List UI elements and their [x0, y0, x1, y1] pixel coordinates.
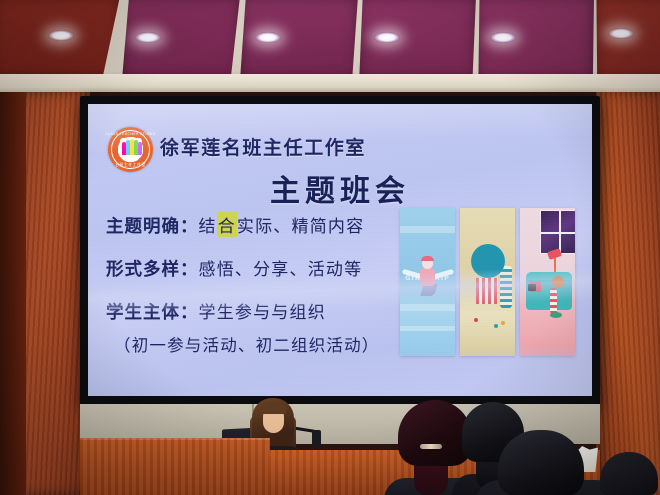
bullet-item-3: 学生主体： 学生参与与组织 [106, 298, 406, 324]
ceiling-light-2 [135, 32, 161, 43]
bullet-3-lead: 学生主体： [106, 299, 199, 324]
ceiling-panel-6 [594, 0, 660, 80]
projection-screen: CLASS TEACHER STUDIO 名班主任工作室 徐军莲名班主任工作室 … [88, 104, 592, 396]
illustration-airplane-traveler: GIRL TRIP [400, 208, 455, 356]
bullet-1-highlight: 合 [217, 212, 237, 237]
right-wood-wall [596, 92, 660, 495]
beach-umbrella-icon [471, 244, 505, 278]
bullet-item-1: 主题明确： 结合实际、精简内容 [106, 212, 406, 238]
bullet-item-2: 形式多样： 感悟、分享、活动等 [106, 255, 406, 281]
left-wall-shadow [0, 92, 26, 495]
window-icon [540, 210, 575, 254]
bullet-1-rest-after: 实际、精简内容 [237, 212, 364, 237]
ceiling-light-6 [608, 28, 634, 39]
slide-bullet-list: 主题明确： 结合实际、精简内容 形式多样： 感悟、分享、活动等 学生主体： 学生… [106, 212, 406, 373]
ceiling-light-3 [255, 32, 281, 43]
ceiling [0, 0, 660, 92]
slide-image-row: GIRL TRIP [400, 208, 576, 356]
illustration-living-room-sofa [520, 208, 575, 356]
bullet-1-lead: 主题明确： [106, 213, 199, 238]
emblem-center [120, 138, 142, 156]
podium [80, 438, 270, 495]
ceiling-light-5 [490, 32, 516, 43]
ceiling-light-4 [374, 32, 400, 43]
soffit-lip [0, 88, 660, 92]
bullet-2-lead: 形式多样： [106, 256, 199, 281]
bullet-2-rest: 感悟、分享、活动等 [199, 255, 363, 280]
bullet-4-rest: （初一参与活动、初二组织活动） [114, 332, 380, 356]
ceiling-light-1 [48, 30, 74, 41]
bullet-item-4: （初一参与活动、初二组织活动） [106, 332, 406, 356]
emblem-top-arc-text: CLASS TEACHER STUDIO [105, 132, 156, 136]
microphone-base [312, 430, 321, 446]
slide-header-text: 徐军莲名班主任工作室 [160, 133, 366, 160]
bullet-3-rest: 学生参与与组织 [199, 298, 326, 323]
bullet-1-rest-before: 结 [199, 212, 217, 237]
lecture-hall-scene: CLASS TEACHER STUDIO 名班主任工作室 徐军莲名班主任工作室 … [0, 0, 660, 495]
illustration-beach-umbrella [460, 208, 515, 356]
slide-title: 主题班会 [88, 166, 592, 210]
